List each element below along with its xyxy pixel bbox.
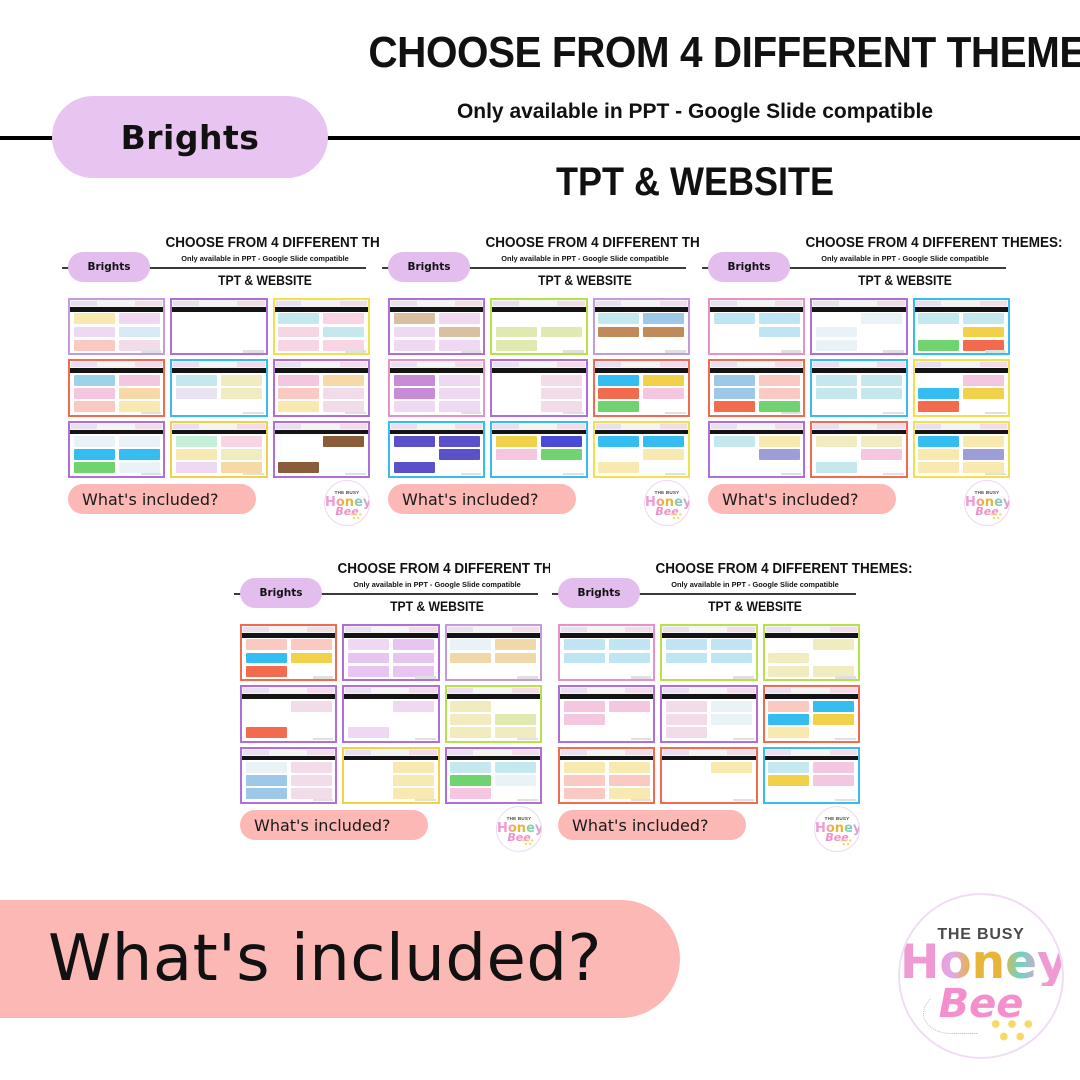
preview-card[interactable]: BrightsCHOOSE FROM 4 DIFFERENT THEMES:On… — [380, 232, 698, 530]
mini-slide-box — [278, 327, 319, 338]
mini-slide-grid — [388, 298, 690, 478]
mini-slide-box — [564, 762, 605, 773]
card-theme-pill[interactable]: Brights — [68, 252, 150, 282]
mini-slide-box — [246, 639, 287, 650]
mini-slide-tag-right — [455, 362, 482, 367]
mini-slide-tag-right — [409, 750, 436, 755]
mini-slide-row — [176, 313, 262, 324]
mini-slide-box — [768, 775, 809, 786]
mini-slide-topbar — [242, 687, 335, 694]
mini-slide-box — [813, 788, 854, 799]
mini-slide-tag-left — [663, 750, 689, 755]
mini-slide-body — [394, 375, 480, 412]
mini-slide-box — [393, 701, 434, 712]
mini-slide-footer — [313, 799, 334, 802]
mini-slide-row — [348, 727, 434, 738]
mini-slide-tag-left — [345, 627, 371, 632]
mini-slide-row — [278, 313, 364, 324]
mini-slide-title-band — [765, 756, 858, 761]
mini-slide-row — [74, 401, 160, 412]
mini-slide[interactable] — [913, 298, 1010, 355]
card-whats-included-banner[interactable]: What's included? — [388, 484, 576, 514]
mini-slide-row — [598, 313, 684, 324]
mini-slide-box — [711, 788, 752, 799]
mini-slide-box — [278, 462, 319, 473]
mini-slide-box — [394, 327, 435, 338]
mini-slide[interactable] — [342, 624, 439, 681]
mini-slide-box — [496, 388, 537, 399]
mini-slide[interactable] — [342, 747, 439, 804]
mini-slide-row — [176, 449, 262, 460]
mini-slide-row — [450, 653, 536, 664]
mini-slide-body — [450, 639, 536, 676]
mini-slide-box — [323, 388, 364, 399]
mini-slide-box — [348, 639, 389, 650]
mini-slide[interactable] — [810, 421, 907, 478]
preview-card[interactable]: BrightsCHOOSE FROM 4 DIFFERENT THEMES:On… — [550, 558, 868, 856]
card-header: BrightsCHOOSE FROM 4 DIFFERENT THEMES:On… — [550, 558, 868, 618]
mini-slide-tag-left — [916, 424, 942, 429]
mini-slide-box — [609, 653, 650, 664]
card-theme-pill[interactable]: Brights — [708, 252, 790, 282]
platform-label: TPT & WEBSITE — [376, 160, 1015, 205]
mini-slide-topbar — [492, 423, 585, 430]
mini-slide[interactable] — [170, 298, 267, 355]
mini-slide-box — [246, 775, 287, 786]
mini-slide-box — [861, 436, 902, 447]
mini-slide[interactable] — [660, 624, 757, 681]
mini-slide-box — [564, 666, 605, 677]
mini-slide-topbar — [765, 749, 858, 756]
card-theme-pill-label: Brights — [727, 261, 770, 273]
mini-slide-body — [918, 313, 1004, 350]
mini-slide[interactable] — [273, 421, 370, 478]
card-whats-included-banner[interactable]: What's included? — [68, 484, 256, 514]
mini-slide-body — [768, 639, 854, 676]
mini-slide-footer — [313, 738, 334, 741]
mini-slide-box — [495, 714, 536, 725]
card-whats-included-label: What's included? — [722, 490, 858, 509]
mini-slide-title-band — [447, 694, 540, 699]
mini-slide-row — [278, 436, 364, 447]
mini-slide-row — [278, 462, 364, 473]
mini-slide-title-band — [812, 430, 905, 435]
mini-slide-box — [816, 401, 857, 412]
mini-slide-box — [564, 788, 605, 799]
mini-slide-footer — [415, 676, 436, 679]
mini-slide-footer — [835, 738, 856, 741]
mini-slide-row — [348, 653, 434, 664]
mini-slide-row — [564, 701, 650, 712]
mini-slide[interactable] — [558, 624, 655, 681]
card-header: BrightsCHOOSE FROM 4 DIFFERENT THEMES:On… — [232, 558, 550, 618]
mini-slide[interactable] — [170, 359, 267, 416]
mini-slide-body — [496, 375, 582, 412]
mini-slide-body — [666, 762, 752, 799]
mini-slide[interactable] — [763, 624, 860, 681]
mini-slide-row — [918, 462, 1004, 473]
mini-slide-box — [598, 449, 639, 460]
mini-slide[interactable] — [913, 421, 1010, 478]
mini-slide-box — [759, 388, 800, 399]
mini-slide-box — [711, 666, 752, 677]
mini-slide[interactable] — [490, 421, 587, 478]
mini-slide-tag-left — [916, 301, 942, 306]
mini-slide[interactable] — [170, 421, 267, 478]
mini-slide-box — [816, 436, 857, 447]
card-honeycomb-icon — [669, 512, 683, 520]
card-platform-label: TPT & WEBSITE — [341, 599, 534, 614]
mini-slide-tag-right — [775, 362, 802, 367]
mini-slide-title-band — [172, 307, 265, 312]
mini-slide-tag-left — [813, 301, 839, 306]
mini-slide[interactable] — [68, 421, 165, 478]
mini-slide-row — [74, 449, 160, 460]
mini-slide[interactable] — [660, 685, 757, 742]
mini-slide-row — [666, 666, 752, 677]
mini-slide-tag-left — [766, 627, 792, 632]
mini-slide-box — [918, 401, 959, 412]
mini-slide-row — [666, 639, 752, 650]
mini-slide-tag-right — [409, 688, 436, 693]
mini-slide-row — [666, 762, 752, 773]
mini-slide-row — [278, 401, 364, 412]
mini-slide-body — [394, 313, 480, 350]
mini-slide-title-band — [70, 368, 163, 373]
preview-card[interactable]: BrightsCHOOSE FROM 4 DIFFERENT THEMES:On… — [700, 232, 1018, 530]
mini-slide[interactable] — [445, 624, 542, 681]
mini-slide-box — [816, 462, 857, 473]
mini-slide-box — [813, 653, 854, 664]
mini-slide-row — [768, 653, 854, 664]
mini-slide-footer — [665, 412, 686, 415]
card-subtitle: Only available in PPT - Google Slide com… — [478, 254, 692, 263]
mini-slide-box — [348, 762, 389, 773]
mini-slide-box — [816, 388, 857, 399]
mini-slide-row — [394, 462, 480, 473]
card-brand-logo: THE BUSYHoneyBee — [644, 480, 690, 526]
theme-pill-brights[interactable]: Brights — [52, 96, 328, 178]
mini-slide-box — [564, 714, 605, 725]
mini-slide-footer — [985, 473, 1006, 476]
mini-slide-topbar — [595, 361, 688, 368]
mini-slide-topbar — [447, 687, 540, 694]
mini-slide-footer — [345, 412, 366, 415]
mini-slide-grid — [240, 624, 542, 804]
mini-slide-topbar — [447, 626, 540, 633]
mini-slide-topbar — [242, 626, 335, 633]
mini-slide-body — [564, 762, 650, 799]
mini-slide-box — [666, 775, 707, 786]
mini-slide-box — [711, 714, 752, 725]
mini-slide-box — [711, 727, 752, 738]
mini-slide-box — [246, 653, 287, 664]
mini-slide-body — [246, 701, 332, 738]
mini-slide-tag-left — [663, 688, 689, 693]
mini-slide-body — [768, 701, 854, 738]
mini-slide[interactable] — [593, 298, 690, 355]
mini-slide-tag-right — [340, 424, 367, 429]
mini-slide-row — [816, 449, 902, 460]
mini-slide-box — [609, 666, 650, 677]
card-whats-included-banner[interactable]: What's included? — [240, 810, 428, 840]
mini-slide-box — [711, 701, 752, 712]
mini-slide-box — [813, 762, 854, 773]
mini-slide-footer — [345, 473, 366, 476]
mini-slide-row — [176, 340, 262, 351]
mini-slide[interactable] — [342, 685, 439, 742]
mini-slide-box — [768, 762, 809, 773]
mini-slide-topbar — [710, 361, 803, 368]
mini-slide-row — [394, 375, 480, 386]
mini-slide-row — [816, 313, 902, 324]
card-brand-logo: THE BUSYHoneyBee — [324, 480, 370, 526]
mini-slide-box — [564, 701, 605, 712]
mini-slide-body — [816, 436, 902, 473]
mini-slide[interactable] — [388, 298, 485, 355]
mini-slide-box — [393, 788, 434, 799]
mini-slide[interactable] — [490, 359, 587, 416]
mini-slide-title-band — [390, 368, 483, 373]
mini-slide-box — [963, 462, 1004, 473]
mini-slide-box — [74, 436, 115, 447]
mini-slide-row — [564, 788, 650, 799]
theme-pill-label: Brights — [121, 118, 260, 157]
mini-slide[interactable] — [240, 685, 337, 742]
mini-slide[interactable] — [68, 359, 165, 416]
mini-slide-footer — [883, 473, 904, 476]
mini-slide-box — [119, 327, 160, 338]
mini-slide-row — [176, 388, 262, 399]
card-platform-label: TPT & WEBSITE — [659, 599, 852, 614]
mini-slide[interactable] — [763, 685, 860, 742]
mini-slide-tag-left — [711, 362, 737, 367]
mini-slide-title-band — [662, 756, 755, 761]
mini-slide-box — [768, 701, 809, 712]
mini-slide-box — [816, 340, 857, 351]
mini-slide-footer — [665, 350, 686, 353]
mini-slide[interactable] — [445, 685, 542, 742]
mini-slide-tag-left — [391, 362, 417, 367]
mini-slide-box — [541, 449, 582, 460]
mini-slide-box — [918, 462, 959, 473]
mini-slide-row — [918, 313, 1004, 324]
mini-slide[interactable] — [445, 747, 542, 804]
mini-slide-box — [119, 375, 160, 386]
mini-slide[interactable] — [913, 359, 1010, 416]
mini-slide[interactable] — [763, 747, 860, 804]
mini-slide-box — [246, 762, 287, 773]
mini-slide-title-band — [275, 368, 368, 373]
card-whats-included-banner[interactable]: What's included? — [708, 484, 896, 514]
mini-slide-tag-left — [391, 301, 417, 306]
mini-slide-box — [496, 449, 537, 460]
mini-slide-tag-left — [173, 362, 199, 367]
mini-slide-title-band — [812, 368, 905, 373]
mini-slide-box — [813, 727, 854, 738]
card-title: CHOOSE FROM 4 DIFFERENT THEMES: — [337, 561, 536, 577]
mini-slide-row — [666, 714, 752, 725]
mini-slide-box — [439, 436, 480, 447]
mini-slide-tag-right — [877, 424, 904, 429]
mini-slide[interactable] — [240, 747, 337, 804]
mini-slide-row — [714, 449, 800, 460]
mini-slide-footer — [883, 350, 904, 353]
mini-slide-body — [278, 436, 364, 473]
mini-slide-box — [221, 436, 262, 447]
mini-slide[interactable] — [558, 685, 655, 742]
mini-slide-tag-right — [135, 362, 162, 367]
mini-slide[interactable] — [810, 359, 907, 416]
mini-slide-box — [711, 653, 752, 664]
mini-slide-footer — [781, 412, 802, 415]
mini-slide-row — [714, 340, 800, 351]
page-title: CHOOSE FROM 4 DIFFERENT THEMES: — [368, 28, 1021, 78]
mini-slide-tag-right — [135, 424, 162, 429]
mini-slide-row — [394, 327, 480, 338]
mini-slide-row — [816, 462, 902, 473]
mini-slide[interactable] — [708, 421, 805, 478]
mini-slide-row — [816, 401, 902, 412]
mini-slide[interactable] — [593, 421, 690, 478]
mini-slide-row — [714, 436, 800, 447]
mini-slide-box — [246, 701, 287, 712]
mini-slide-title-band — [595, 430, 688, 435]
mini-slide-tag-right — [237, 301, 264, 306]
mini-slide-box — [861, 388, 902, 399]
mini-slide-topbar — [710, 423, 803, 430]
mini-slide-topbar — [812, 423, 905, 430]
mini-slide-topbar — [344, 687, 437, 694]
mini-slide-row — [768, 727, 854, 738]
mini-slide-box — [598, 340, 639, 351]
mini-slide-tag-right — [557, 362, 584, 367]
card-platform-label: TPT & WEBSITE — [489, 273, 682, 288]
mini-slide-box — [246, 788, 287, 799]
mini-slide-box — [348, 775, 389, 786]
mini-slide-box — [74, 327, 115, 338]
mini-slide-box — [394, 313, 435, 324]
mini-slide[interactable] — [593, 359, 690, 416]
mini-slide[interactable] — [490, 298, 587, 355]
mini-slide-box — [816, 449, 857, 460]
mini-slide-topbar — [560, 687, 653, 694]
mini-slide-box — [759, 340, 800, 351]
mini-slide-box — [439, 313, 480, 324]
mini-slide-box — [394, 388, 435, 399]
card-theme-pill[interactable]: Brights — [558, 578, 640, 608]
mini-slide-row — [496, 462, 582, 473]
mini-slide-tag-right — [512, 627, 539, 632]
mini-slide-box — [714, 449, 755, 460]
mini-slide-footer — [665, 473, 686, 476]
mini-slide-tag-right — [775, 301, 802, 306]
card-whats-included-label: What's included? — [572, 816, 708, 835]
card-theme-pill[interactable]: Brights — [388, 252, 470, 282]
mini-slide-box — [861, 340, 902, 351]
mini-slide-body — [564, 701, 650, 738]
preview-card[interactable]: BrightsCHOOSE FROM 4 DIFFERENT THEMES:On… — [232, 558, 550, 856]
mini-slide-box — [963, 449, 1004, 460]
mini-slide-row — [598, 449, 684, 460]
mini-slide-row — [278, 388, 364, 399]
card-whats-included-label: What's included? — [254, 816, 390, 835]
mini-slide-tag-right — [660, 301, 687, 306]
mini-slide-body — [348, 762, 434, 799]
mini-slide-row — [918, 401, 1004, 412]
mini-slide[interactable] — [388, 359, 485, 416]
mini-slide-topbar — [915, 423, 1008, 430]
whats-included-banner[interactable]: What's included? — [0, 900, 680, 1018]
mini-slide[interactable] — [273, 359, 370, 416]
honeycomb-icon — [988, 1017, 1037, 1043]
mini-slide-tag-right — [877, 362, 904, 367]
mini-slide-box — [176, 449, 217, 460]
mini-slide[interactable] — [68, 298, 165, 355]
mini-slide-tag-left — [813, 362, 839, 367]
mini-slide-box — [714, 462, 755, 473]
mini-slide-tag-right — [340, 362, 367, 367]
preview-card[interactable]: BrightsCHOOSE FROM 4 DIFFERENT THEMES:On… — [60, 232, 378, 530]
mini-slide-box — [323, 327, 364, 338]
mini-slide-box — [714, 327, 755, 338]
mini-slide[interactable] — [660, 747, 757, 804]
mini-slide-footer — [415, 799, 436, 802]
mini-slide-box — [323, 375, 364, 386]
mini-slide-row — [450, 714, 536, 725]
mini-slide-footer — [461, 473, 482, 476]
mini-slide[interactable] — [388, 421, 485, 478]
mini-slide[interactable] — [558, 747, 655, 804]
mini-slide-footer — [141, 473, 162, 476]
mini-slide-body — [918, 436, 1004, 473]
mini-slide-row — [598, 375, 684, 386]
mini-slide-box — [711, 639, 752, 650]
mini-slide-tag-right — [660, 362, 687, 367]
mini-slide[interactable] — [708, 298, 805, 355]
mini-slide-footer — [563, 350, 584, 353]
mini-slide-box — [278, 436, 319, 447]
mini-slide-box — [495, 762, 536, 773]
mini-slide-row — [564, 775, 650, 786]
card-theme-pill[interactable]: Brights — [240, 578, 322, 608]
mini-slide[interactable] — [273, 298, 370, 355]
mini-slide-title-band — [915, 307, 1008, 312]
mini-slide[interactable] — [240, 624, 337, 681]
mini-slide-tag-left — [345, 688, 371, 693]
mini-slide-title-band — [390, 430, 483, 435]
mini-slide-box — [963, 388, 1004, 399]
mini-slide-box — [714, 388, 755, 399]
card-whats-included-banner[interactable]: What's included? — [558, 810, 746, 840]
mini-slide-tag-right — [660, 424, 687, 429]
mini-slide-tag-left — [813, 424, 839, 429]
mini-slide-box — [119, 313, 160, 324]
mini-slide-topbar — [765, 687, 858, 694]
mini-slide-row — [74, 462, 160, 473]
mini-slide-box — [768, 727, 809, 738]
mini-slide-title-band — [662, 633, 755, 638]
mini-slide-box — [918, 327, 959, 338]
mini-slide-box — [393, 639, 434, 650]
mini-slide-box — [711, 775, 752, 786]
mini-slide-box — [450, 714, 491, 725]
mini-slide[interactable] — [708, 359, 805, 416]
mini-slide[interactable] — [810, 298, 907, 355]
mini-slide-tag-left — [243, 627, 269, 632]
mini-slide-box — [666, 666, 707, 677]
mini-slide-title-band — [595, 368, 688, 373]
